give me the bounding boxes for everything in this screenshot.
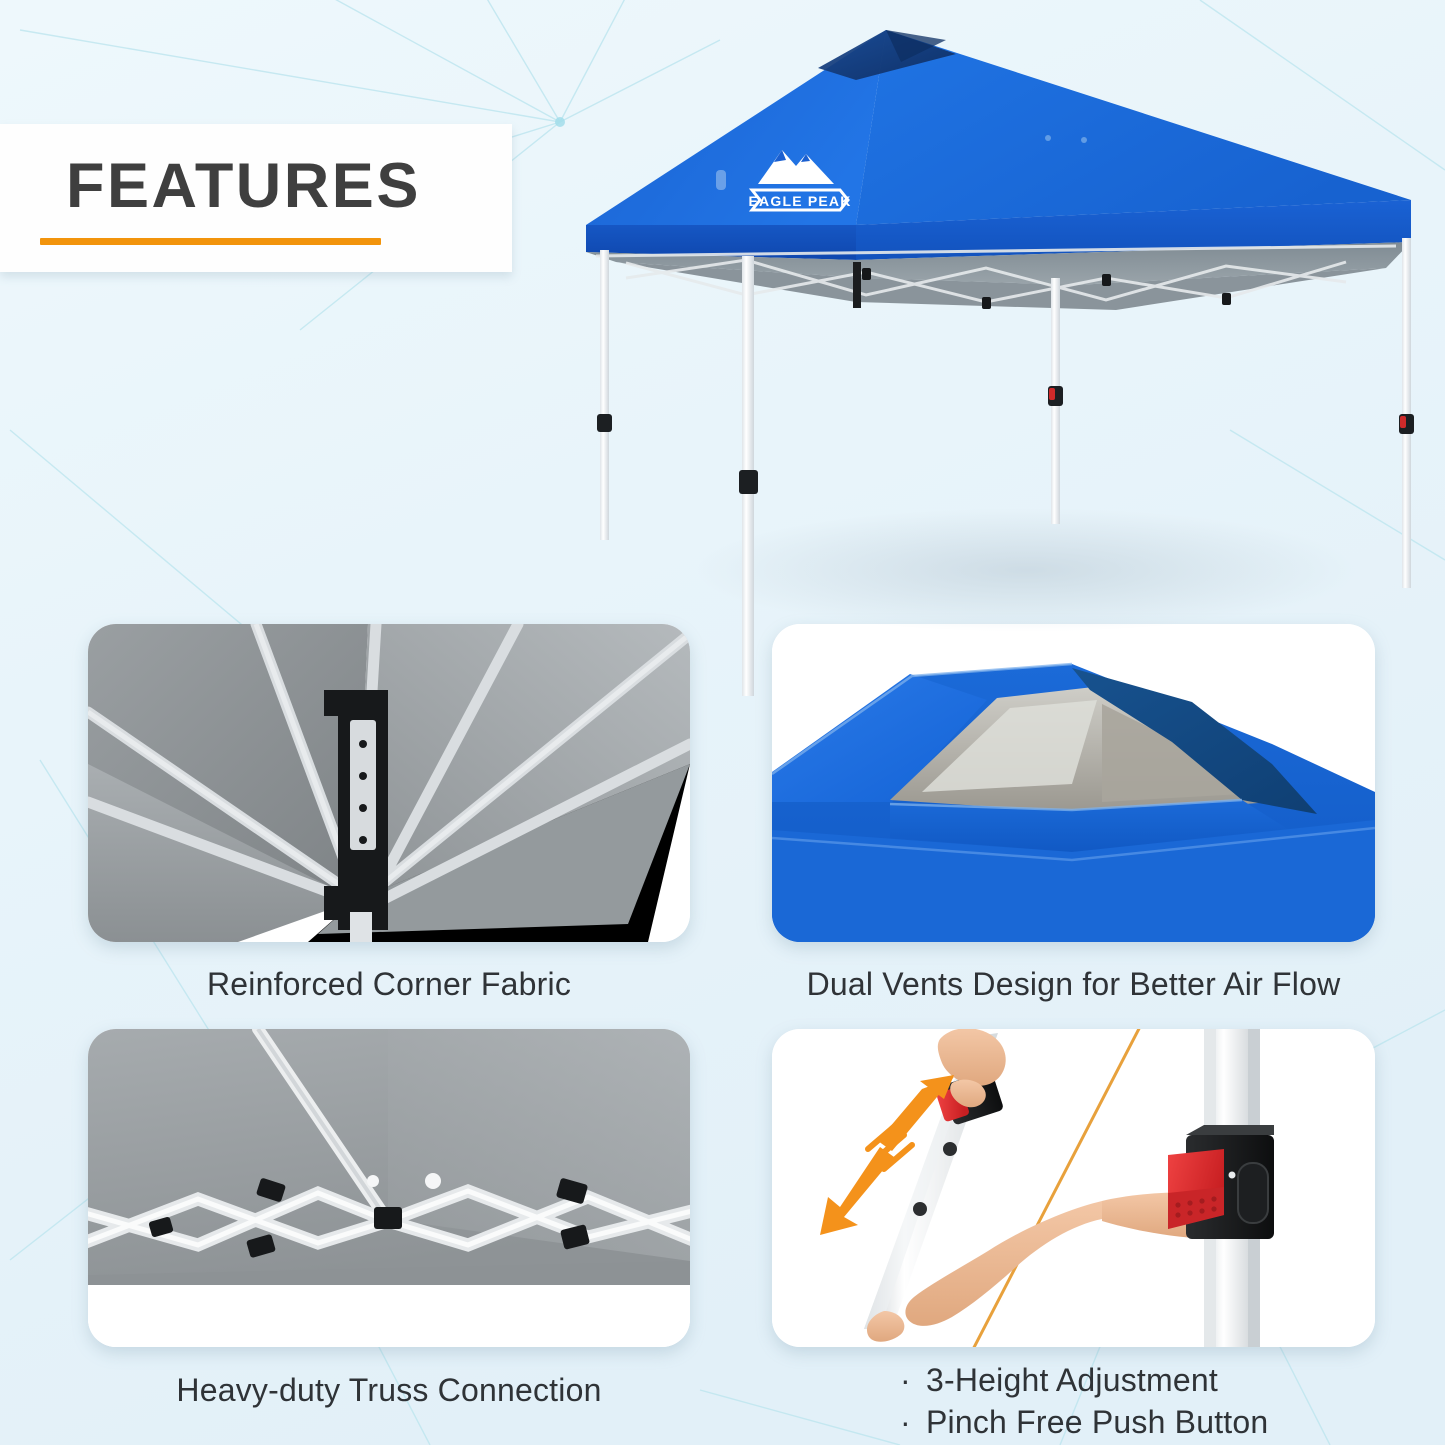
bullet-text-2: Pinch Free Push Button [926, 1404, 1268, 1440]
leg-far-right [1402, 238, 1411, 588]
leg-push-button-center-right [1049, 388, 1055, 400]
caption-height-adjustment: ·3-Height Adjustment ·Pinch Free Push Bu… [900, 1360, 1268, 1443]
push-button-red [1168, 1149, 1224, 1229]
svg-text:EAGLE PEAK: EAGLE PEAK [748, 193, 851, 209]
leg-push-button-far-right [1400, 416, 1406, 428]
bullet-line-1: ·3-Height Adjustment [900, 1360, 1268, 1402]
truss-center-hub [853, 262, 861, 308]
title-underline [40, 238, 381, 245]
leg-front-left [600, 250, 609, 540]
caption-reinforced-corner: Reinforced Corner Fabric [88, 966, 690, 1003]
leg-lock-front-left [597, 414, 612, 432]
bullet-text-1: 3-Height Adjustment [926, 1362, 1218, 1398]
canopy-illustration: EAGLE PEAK [556, 10, 1436, 700]
bullet-marker-1: · [900, 1360, 926, 1402]
caption-truss-connection: Heavy-duty Truss Connection [88, 1372, 690, 1409]
hero-product-image: EAGLE PEAK [556, 10, 1436, 700]
panel-truss-connection[interactable] [88, 1029, 690, 1347]
panel-height-adjustment[interactable] [772, 1029, 1375, 1347]
caption-dual-vents: Dual Vents Design for Better Air Flow [772, 966, 1375, 1003]
page-title: FEATURES [66, 155, 512, 218]
canopy-top-right-face [856, 30, 1411, 225]
features-banner: FEATURES [0, 124, 512, 272]
infographic-root: EAGLE PEAK [0, 0, 1445, 1445]
bullet-line-2: ·Pinch Free Push Button [900, 1402, 1268, 1444]
height-adjustment-photo [772, 1029, 1375, 1347]
bullet-marker-2: · [900, 1402, 926, 1444]
leg-lock-near [739, 470, 758, 494]
truss-connection-photo [88, 1029, 690, 1347]
ground-shadow [696, 508, 1356, 632]
